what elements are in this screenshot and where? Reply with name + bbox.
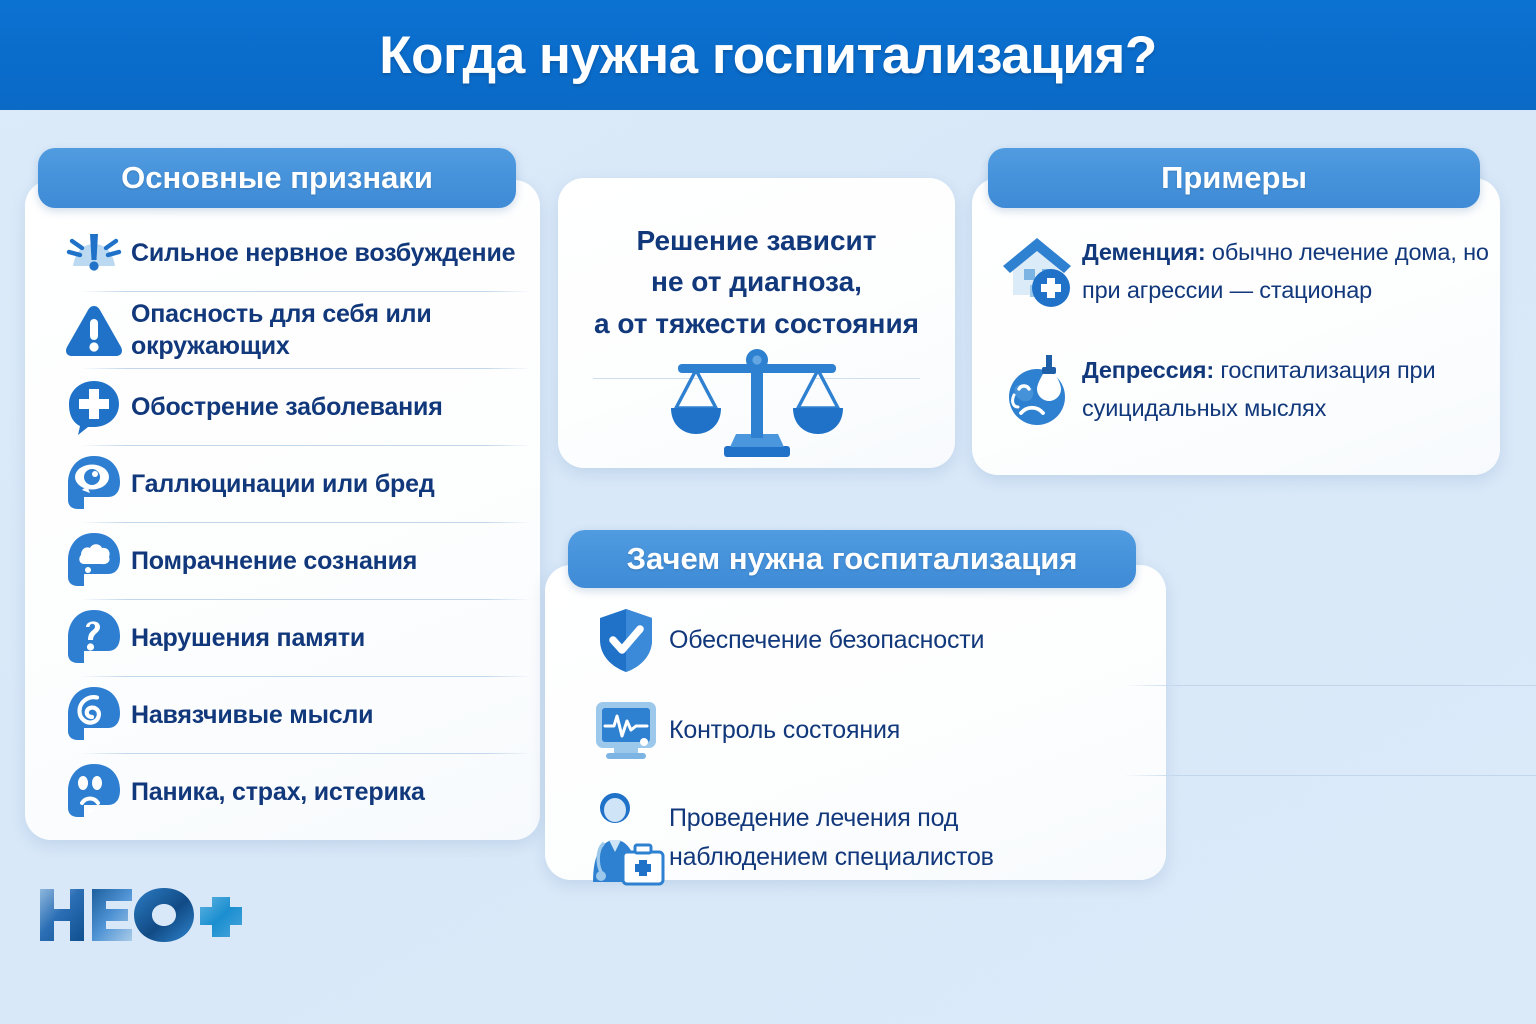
- list-item[interactable]: Проведение лечения под наблюдением специ…: [545, 775, 1166, 900]
- list-item-label: Обострение заболевания: [131, 391, 443, 423]
- decision-line-1: Решение зависит: [558, 220, 955, 261]
- list-item[interactable]: Галлюцинации или бред: [25, 445, 540, 522]
- shield-check-icon: [583, 606, 669, 674]
- example-term: Деменция:: [1082, 239, 1206, 265]
- page-title: Когда нужна госпитализация?: [379, 25, 1156, 86]
- medical-cross-speech-icon: [57, 377, 131, 437]
- decision-statement-card: Решение зависит не от диагноза, а от тяж…: [558, 178, 955, 468]
- why-hospitalization-list: Обеспечение безопасности Контроль состоя…: [545, 595, 1166, 900]
- main-signs-list: Сильное нервное возбуждение Опасность дл…: [25, 214, 540, 830]
- list-item-label: Нарушения памяти: [131, 622, 365, 654]
- why-hospitalization-heading: Зачем нужна госпитализация: [568, 530, 1136, 588]
- list-item-label: Галлюцинации или бред: [131, 468, 435, 500]
- main-signs-heading-label: Основные признаки: [121, 160, 433, 196]
- why-heading-label: Зачем нужна госпитализация: [627, 541, 1078, 577]
- examples-heading-label: Примеры: [1161, 160, 1307, 196]
- list-item[interactable]: Обострение заболевания: [25, 368, 540, 445]
- scales-balance-icon: [558, 346, 955, 458]
- head-panic-face-icon: [57, 761, 131, 823]
- list-item[interactable]: Обеспечение безопасности: [545, 595, 1166, 685]
- main-signs-heading: Основные признаки: [38, 148, 516, 208]
- list-item-label: Навязчивые мысли: [131, 699, 373, 731]
- list-item[interactable]: Контроль состояния: [545, 685, 1166, 775]
- list-item[interactable]: Деменция: обычно лечение дома, но при аг…: [972, 212, 1500, 330]
- list-item[interactable]: Навязчивые мысли: [25, 676, 540, 753]
- sad-face-teardrop-icon: [996, 351, 1082, 427]
- exclamation-burst-icon: [57, 222, 131, 284]
- list-item[interactable]: Нарушения памяти: [25, 599, 540, 676]
- list-item-label: Паника, страх, истерика: [131, 776, 425, 808]
- list-item[interactable]: Помрачнение сознания: [25, 522, 540, 599]
- list-item-label: Контроль состояния: [669, 711, 900, 750]
- list-item[interactable]: Сильное нервное возбуждение: [25, 214, 540, 291]
- list-item[interactable]: Депрессия: госпитализация при суицидальн…: [972, 330, 1500, 448]
- list-item[interactable]: Опасность для себя или окружающих: [25, 291, 540, 368]
- list-item-label: Депрессия: госпитализация при суицидальн…: [1082, 351, 1500, 427]
- warning-triangle-icon: [57, 302, 131, 358]
- head-question-icon: [57, 607, 131, 669]
- head-cloud-icon: [57, 530, 131, 592]
- list-item-label: Опасность для себя или окружающих: [131, 298, 540, 362]
- house-medical-icon: [996, 233, 1082, 309]
- list-item-label: Помрачнение сознания: [131, 545, 417, 577]
- head-spiral-icon: [57, 684, 131, 746]
- doctor-briefcase-icon: [583, 790, 669, 886]
- list-item-label: Сильное нервное возбуждение: [131, 237, 515, 269]
- list-item[interactable]: Паника, страх, истерика: [25, 753, 540, 830]
- heart-monitor-icon: [583, 699, 669, 761]
- decision-line-3: а от тяжести состояния: [558, 303, 955, 344]
- examples-heading: Примеры: [988, 148, 1480, 208]
- list-item-label: Проведение лечения под наблюдением специ…: [669, 799, 1089, 877]
- example-term: Депрессия:: [1082, 357, 1214, 383]
- head-eye-icon: [57, 453, 131, 515]
- examples-list: Деменция: обычно лечение дома, но при аг…: [972, 212, 1500, 448]
- divider: [1123, 685, 1536, 686]
- list-item-label: Деменция: обычно лечение дома, но при аг…: [1082, 233, 1500, 309]
- decision-statement-text: Решение зависит не от диагноза, а от тяж…: [558, 220, 955, 344]
- divider: [1123, 775, 1536, 776]
- decision-line-2: не от диагноза,: [558, 261, 955, 302]
- page-header: Когда нужна госпитализация?: [0, 0, 1536, 110]
- list-item-label: Обеспечение безопасности: [669, 621, 984, 660]
- neo-plus-logo: [36, 885, 246, 947]
